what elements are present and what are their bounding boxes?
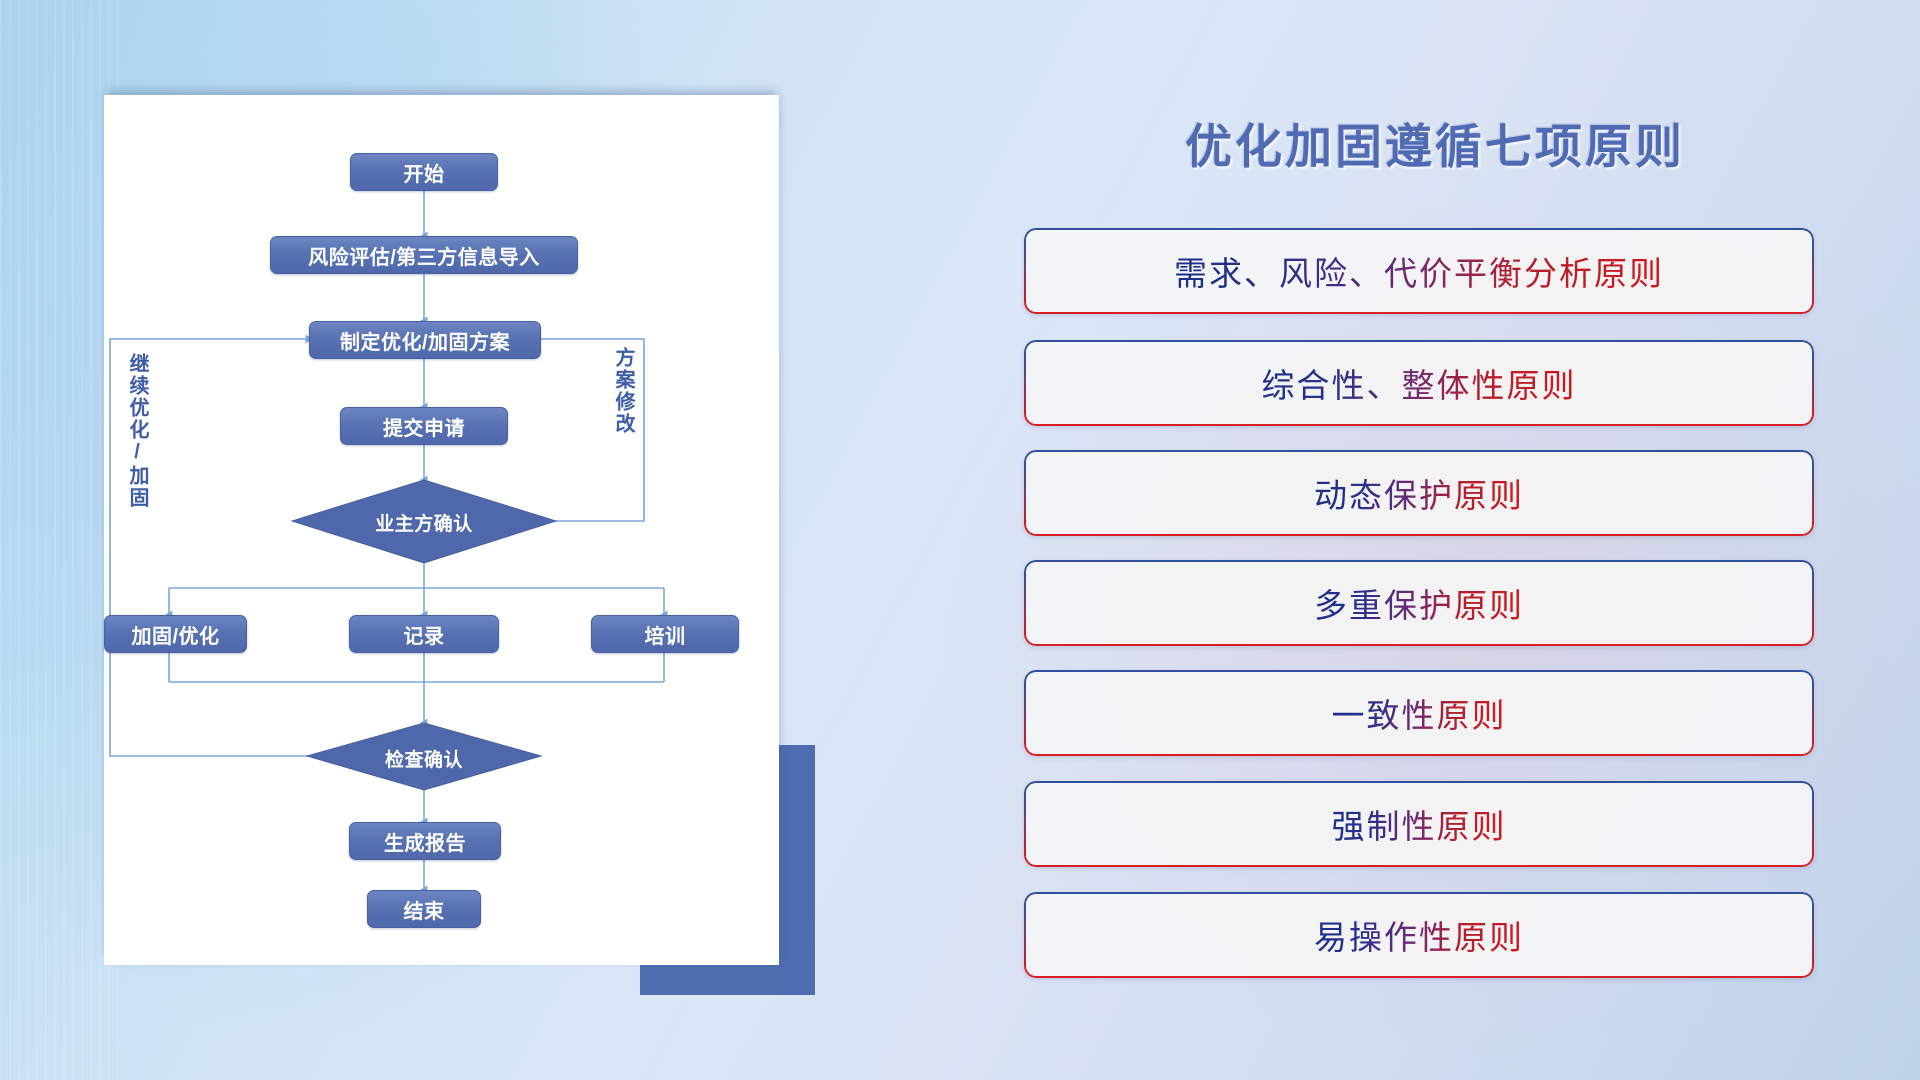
flow-node-start[interactable]: 开始 xyxy=(350,153,498,191)
principle-item-3[interactable]: 动态保护原则 xyxy=(1024,450,1814,536)
principle-item-3-label: 动态保护原则 xyxy=(1314,469,1524,517)
flow-node-end[interactable]: 结束 xyxy=(367,890,481,928)
flow-node-reinforce-optimize-label: 加固/优化 xyxy=(131,620,219,649)
flow-node-submit-application[interactable]: 提交申请 xyxy=(340,407,508,445)
flow-node-risk-assessment-label: 风险评估/第三方信息导入 xyxy=(308,241,540,270)
flow-node-risk-assessment[interactable]: 风险评估/第三方信息导入 xyxy=(270,236,578,274)
principles-pane: 优化加固遵循七项原则 需求、风险、代价平衡分析原则 综合性、整体性原则 动态保护… xyxy=(1020,0,1850,1080)
flow-node-start-label: 开始 xyxy=(404,158,445,187)
principle-item-4-label: 多重保护原则 xyxy=(1314,579,1524,627)
principle-item-5-label: 一致性原则 xyxy=(1332,689,1507,737)
flow-node-inspection-confirm-label: 检查确认 xyxy=(324,745,524,772)
flow-node-generate-report-label: 生成报告 xyxy=(384,827,466,856)
slide-root: 开始 风险评估/第三方信息导入 制定优化/加固方案 提交申请 业主方确认 加固/… xyxy=(0,0,1920,1080)
flow-node-submit-application-label: 提交申请 xyxy=(383,412,465,441)
principle-item-1-label: 需求、风险、代价平衡分析原则 xyxy=(1174,247,1664,295)
flow-node-record[interactable]: 记录 xyxy=(349,615,499,653)
flowchart-card: 开始 风险评估/第三方信息导入 制定优化/加固方案 提交申请 业主方确认 加固/… xyxy=(104,95,779,965)
principle-item-6[interactable]: 强制性原则 xyxy=(1024,781,1814,867)
flow-node-training[interactable]: 培训 xyxy=(591,615,739,653)
flow-node-make-plan-label: 制定优化/加固方案 xyxy=(340,326,510,355)
principle-item-4[interactable]: 多重保护原则 xyxy=(1024,560,1814,646)
flow-node-generate-report[interactable]: 生成报告 xyxy=(349,822,501,860)
flow-node-reinforce-optimize[interactable]: 加固/优化 xyxy=(104,615,247,653)
flow-node-training-label: 培训 xyxy=(645,620,686,649)
principle-item-7-label: 易操作性原则 xyxy=(1314,911,1524,959)
principle-item-6-label: 强制性原则 xyxy=(1332,800,1507,848)
flow-node-record-label: 记录 xyxy=(404,620,445,649)
principle-item-5[interactable]: 一致性原则 xyxy=(1024,670,1814,756)
flow-node-owner-confirm-label: 业主方确认 xyxy=(324,509,524,536)
principle-item-1[interactable]: 需求、风险、代价平衡分析原则 xyxy=(1024,228,1814,314)
page-title: 优化加固遵循七项原则 xyxy=(1020,108,1850,177)
principle-item-2-label: 综合性、整体性原则 xyxy=(1262,359,1577,407)
background-bands xyxy=(0,0,120,1080)
flow-node-end-label: 结束 xyxy=(404,895,445,924)
flow-edge-label-plan-revision: 方案修改 xyxy=(612,347,633,435)
principle-item-2[interactable]: 综合性、整体性原则 xyxy=(1024,340,1814,426)
flow-edge-label-continue-optimize: 继续优化/加固 xyxy=(126,353,147,509)
flow-node-make-plan[interactable]: 制定优化/加固方案 xyxy=(309,321,541,359)
principle-item-7[interactable]: 易操作性原则 xyxy=(1024,892,1814,978)
